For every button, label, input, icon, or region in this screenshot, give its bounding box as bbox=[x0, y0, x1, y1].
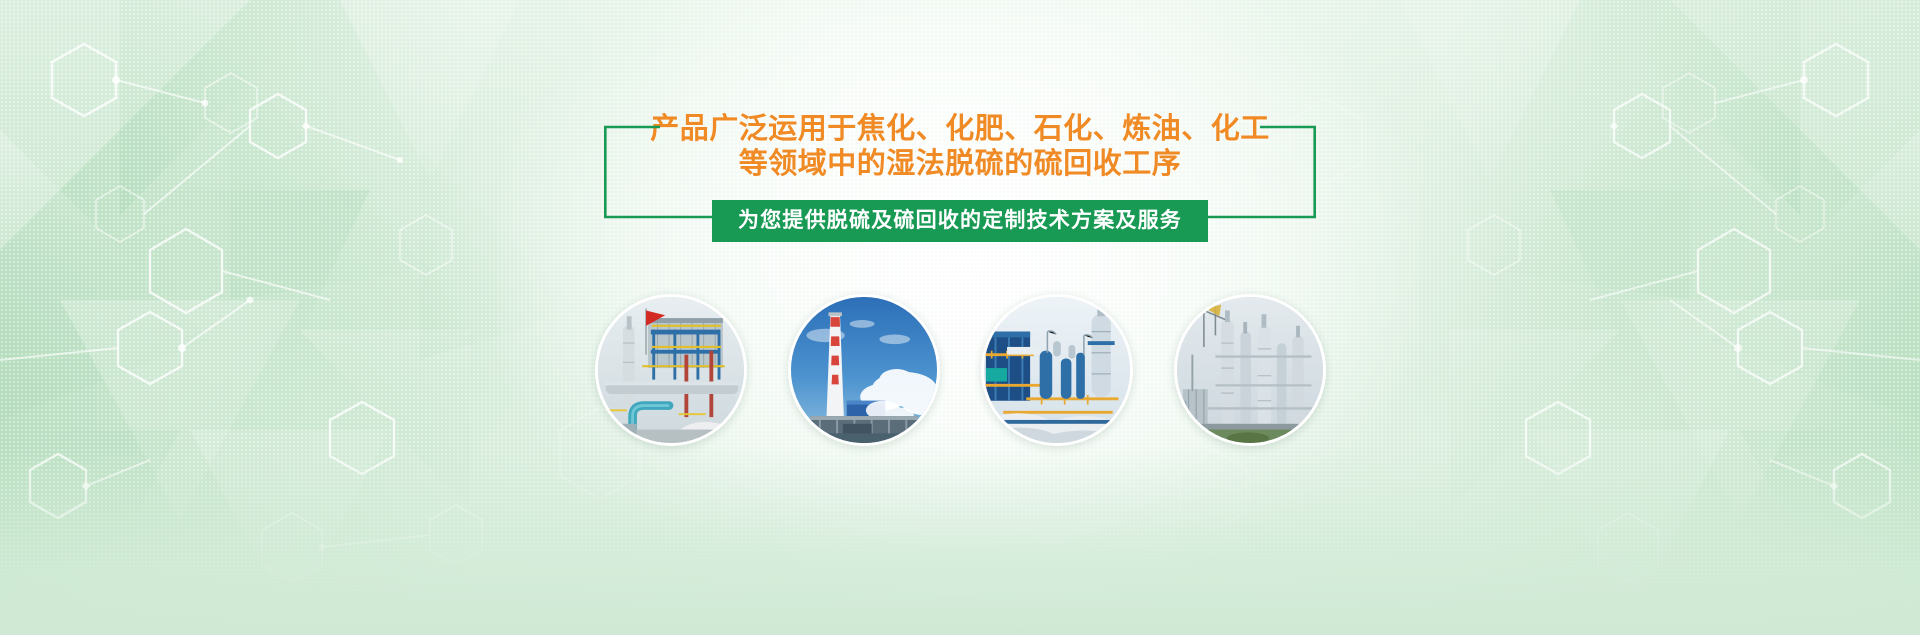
background-bottom-fade bbox=[0, 445, 1920, 635]
banner-content: 产品广泛运用于焦化、化肥、石化、炼油、化工 等领域中的湿法脱硫的硫回收工序 为您… bbox=[0, 112, 1920, 242]
photo-chimney-stack bbox=[788, 294, 940, 446]
photo-circle-row bbox=[0, 294, 1920, 446]
photo-refinery-towers bbox=[1174, 294, 1326, 446]
photo-sulfur-recovery-plant bbox=[595, 294, 747, 446]
green-bracket-frame bbox=[604, 105, 1316, 231]
promo-banner: 产品广泛运用于焦化、化肥、石化、炼油、化工 等领域中的湿法脱硫的硫回收工序 为您… bbox=[0, 0, 1920, 635]
photo-blue-process-units bbox=[981, 294, 1133, 446]
headline-block: 产品广泛运用于焦化、化肥、石化、炼油、化工 等领域中的湿法脱硫的硫回收工序 为您… bbox=[640, 112, 1280, 242]
